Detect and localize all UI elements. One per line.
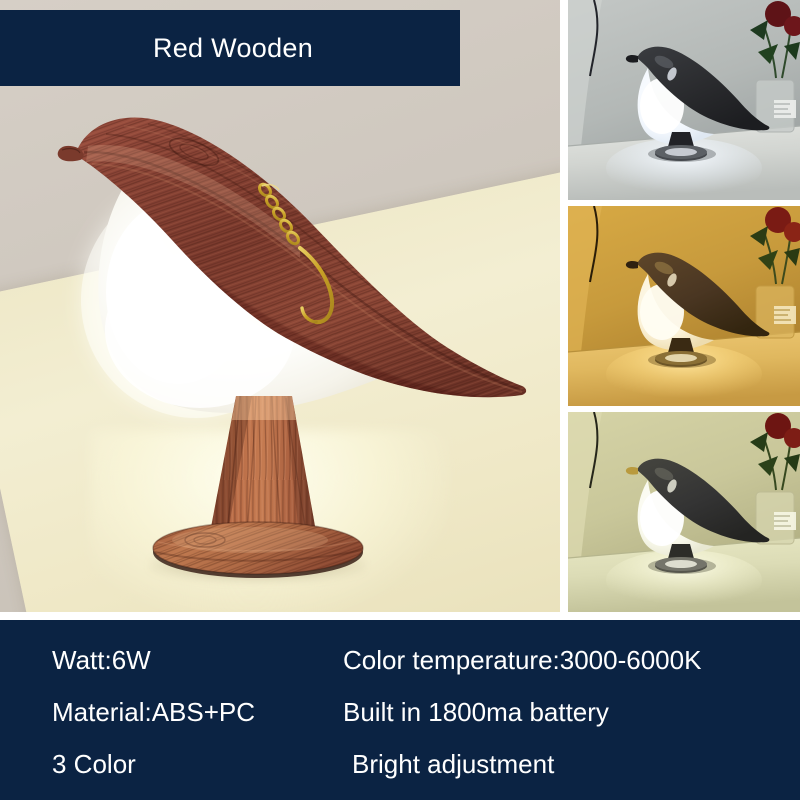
thumbnail-strip [568,0,800,612]
thumbnail-cool-white-mode[interactable] [568,0,800,200]
spec-watt: Watt:6W [52,636,151,684]
spec-color-modes: 3 Color [52,740,136,788]
bird-lamp-figure [0,0,560,612]
spec-row: 3 Color Bright adjustment [0,740,800,788]
spec-row: Watt:6W Color temperature:3000-6000K [0,636,800,684]
spec-color-temperature: Color temperature:3000-6000K [343,636,701,684]
hero-product-photo: Red Wooden [0,0,560,612]
specifications-panel: Watt:6W Color temperature:3000-6000K Mat… [0,620,800,800]
variant-title-banner: Red Wooden [0,10,460,86]
variant-title-text: Red Wooden [147,33,313,64]
product-listing-image: Red Wooden [0,0,800,800]
spec-brightness: Bright adjustment [352,740,554,788]
spec-row: Material:ABS+PC Built in 1800ma battery [0,688,800,736]
thumbnail-warm-amber-mode[interactable] [568,206,800,406]
thumbnail-neutral-white-mode[interactable] [568,412,800,612]
spec-battery: Built in 1800ma battery [343,688,609,736]
spec-material: Material:ABS+PC [52,688,255,736]
